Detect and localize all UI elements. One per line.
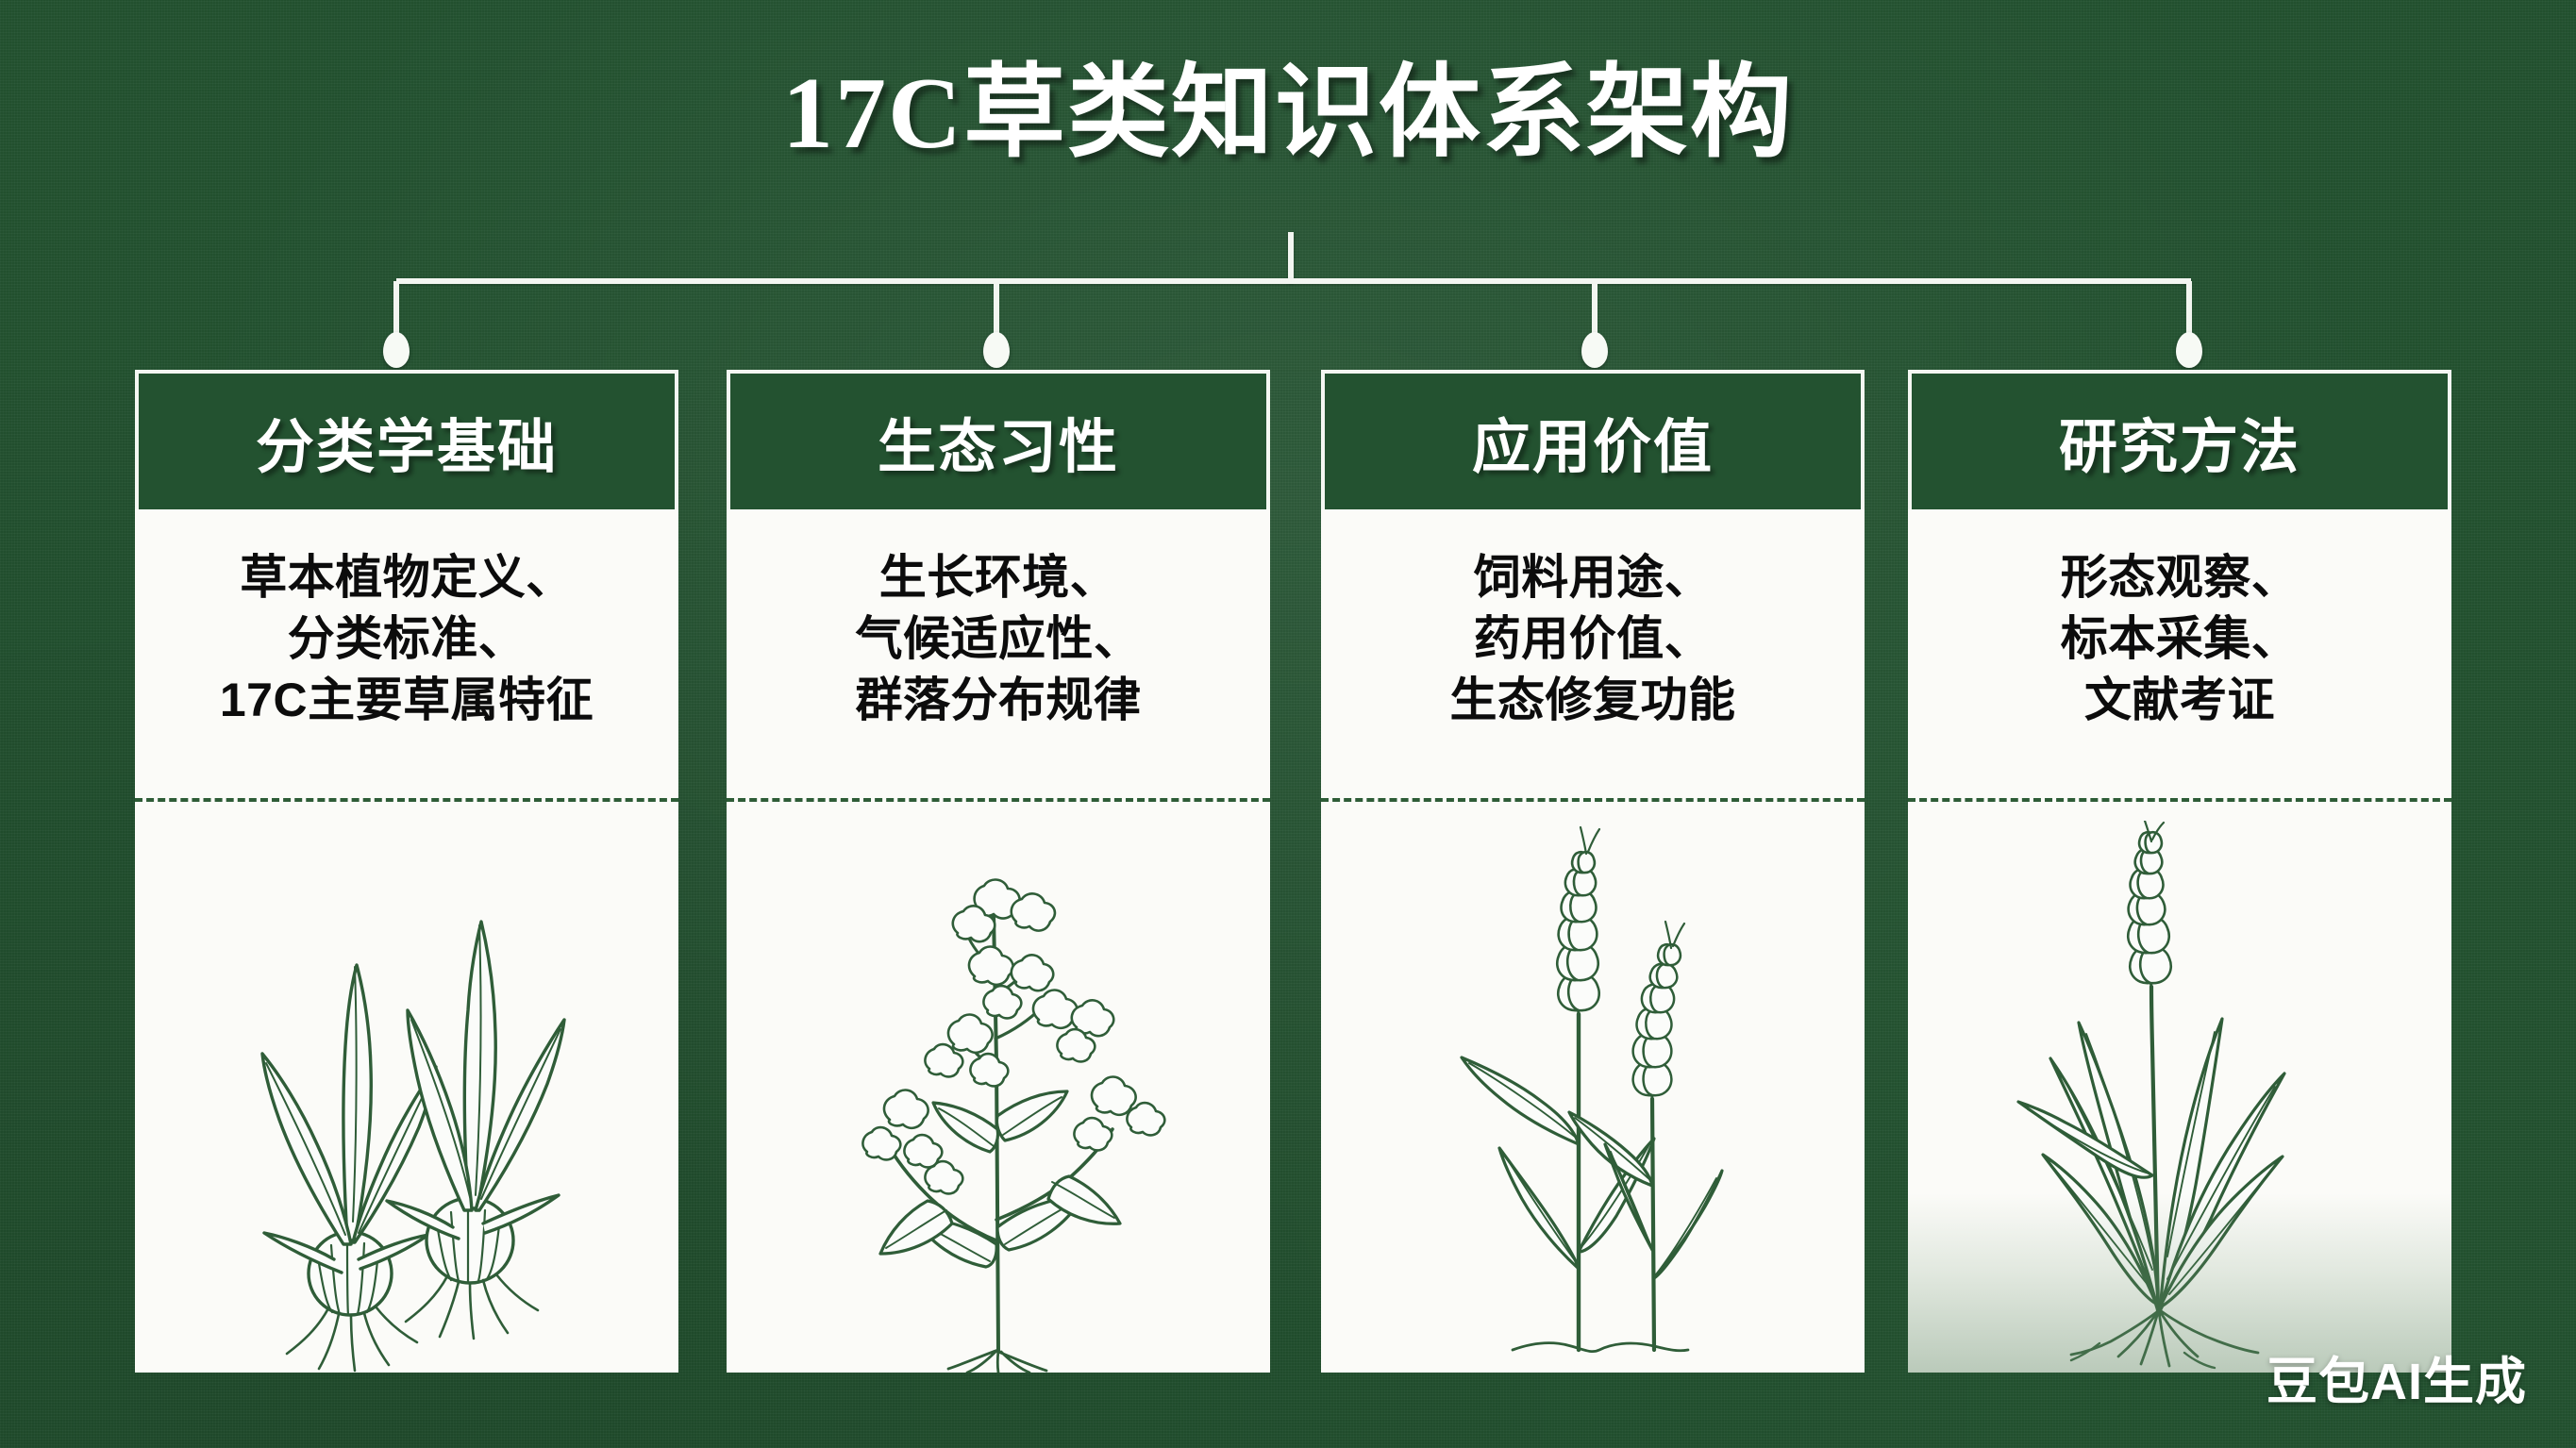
card-application-value[interactable]: 应用价值 饲料用途、 药用价值、 生态修复功能 (1321, 370, 1865, 1373)
card-4-illustration (1908, 802, 2451, 1373)
card-classification-basics[interactable]: 分类学基础 草本植物定义、 分类标准、 17C主要草属特征 (135, 370, 678, 1373)
card-2-illustration (727, 802, 1270, 1373)
card-2-header: 生态习性 (727, 370, 1270, 509)
card-1-header: 分类学基础 (135, 370, 678, 509)
wheat-stalks-icon (1390, 825, 1796, 1373)
connector-drop-4 (2186, 281, 2192, 343)
card-2-body: 生长环境、 气候适应性、 群落分布规律 (727, 509, 1270, 1373)
flowering-herb-icon (786, 835, 1211, 1373)
page-title: 17C草类知识体系架构 (0, 30, 2576, 177)
card-1-title: 分类学基础 (256, 399, 558, 484)
card-4-header: 研究方法 (1908, 370, 2451, 509)
card-1-line-1: 草本植物定义、 (148, 547, 665, 608)
connector-rail (396, 278, 2191, 284)
card-row: 分类学基础 草本植物定义、 分类标准、 17C主要草属特征 (0, 370, 2576, 1379)
card-2-text: 生长环境、 气候适应性、 群落分布规律 (727, 509, 1270, 798)
card-2-title: 生态习性 (878, 399, 1119, 484)
watermark: 豆包AI生成 (2267, 1340, 2527, 1414)
card-1-text: 草本植物定义、 分类标准、 17C主要草属特征 (135, 509, 678, 798)
connector-drop-1 (393, 281, 399, 343)
grain-grass-with-roots-icon (1958, 821, 2401, 1373)
connector-node-1 (383, 332, 410, 368)
card-3-line-2: 药用价值、 (1334, 608, 1851, 670)
connector-drop-2 (994, 281, 999, 343)
bulbous-grass-clump-icon (185, 844, 628, 1373)
card-4-line-2: 标本采集、 (1921, 608, 2438, 670)
card-3-illustration (1321, 802, 1865, 1373)
card-3-header: 应用价值 (1321, 370, 1865, 509)
card-ecological-habits[interactable]: 生态习性 生长环境、 气候适应性、 群落分布规律 (727, 370, 1270, 1373)
card-3-line-1: 饲料用途、 (1334, 547, 1851, 608)
card-3-body: 饲料用途、 药用价值、 生态修复功能 (1321, 509, 1865, 1373)
connector-node-3 (1581, 332, 1608, 368)
card-1-body: 草本植物定义、 分类标准、 17C主要草属特征 (135, 509, 678, 1373)
card-2-line-1: 生长环境、 (740, 547, 1257, 608)
connector-node-2 (983, 332, 1010, 368)
connector-node-4 (2176, 332, 2202, 368)
connector-drop-3 (1592, 281, 1597, 343)
card-1-illustration (135, 802, 678, 1373)
card-4-title: 研究方法 (2059, 399, 2300, 484)
card-1-line-2: 分类标准、 (148, 608, 665, 670)
card-2-line-3: 群落分布规律 (740, 670, 1257, 731)
card-1-line-3: 17C主要草属特征 (148, 670, 665, 731)
card-3-line-3: 生态修复功能 (1334, 670, 1851, 731)
connector-stem (1288, 232, 1294, 283)
card-4-line-3: 文献考证 (1921, 670, 2438, 731)
card-2-line-2: 气候适应性、 (740, 608, 1257, 670)
card-4-body: 形态观察、 标本采集、 文献考证 (1908, 509, 2451, 1373)
card-4-text: 形态观察、 标本采集、 文献考证 (1908, 509, 2451, 798)
card-4-line-1: 形态观察、 (1921, 547, 2438, 608)
card-3-text: 饲料用途、 药用价值、 生态修复功能 (1321, 509, 1865, 798)
card-3-title: 应用价值 (1472, 399, 1714, 484)
card-research-methods[interactable]: 研究方法 形态观察、 标本采集、 文献考证 (1908, 370, 2451, 1373)
